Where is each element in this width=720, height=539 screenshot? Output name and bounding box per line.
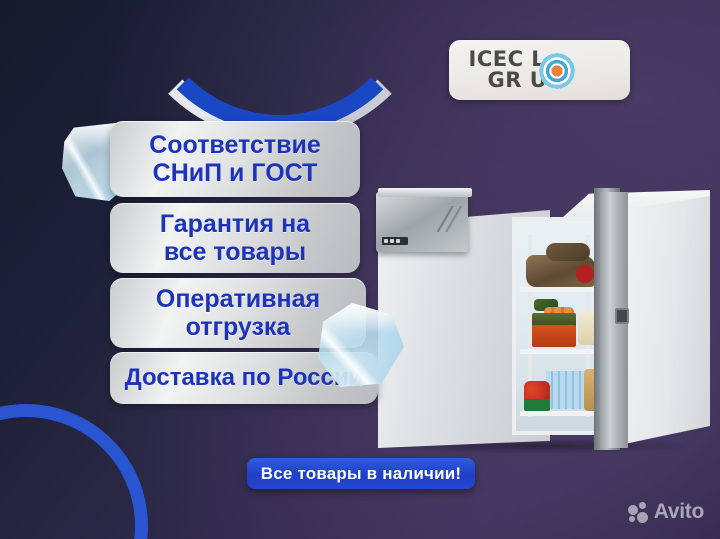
green-box-goods bbox=[524, 399, 550, 411]
avito-label: Avito bbox=[654, 500, 704, 524]
feature-pill-compliance: Соответствие СНиП и ГОСТ bbox=[110, 121, 360, 197]
feature-pill-shipping: Оперативная отгрузка bbox=[110, 278, 366, 348]
shelf bbox=[520, 287, 602, 292]
indicator-light bbox=[384, 239, 388, 243]
feature-pill-label: Гарантия на все товары bbox=[160, 210, 310, 266]
apple-goods bbox=[576, 265, 594, 283]
blue-corner-arc bbox=[0, 392, 160, 539]
produce-crate bbox=[532, 325, 576, 347]
cold-room-interior bbox=[512, 217, 602, 435]
cta-banner: Все товары в наличии! bbox=[247, 458, 475, 489]
advertisement-banner: ICEC L GR UP bbox=[0, 0, 720, 539]
monoblock-control-panel bbox=[382, 237, 408, 245]
water-bottles bbox=[546, 371, 584, 409]
cold-storage-room bbox=[372, 186, 710, 458]
blue-arc bbox=[134, 0, 426, 132]
indicator-light bbox=[396, 239, 400, 243]
monoblock-top bbox=[378, 188, 472, 197]
feature-pill-delivery: Доставка по России bbox=[110, 352, 378, 404]
target-icon bbox=[539, 53, 575, 89]
avito-dot bbox=[628, 505, 638, 515]
shelf bbox=[520, 411, 602, 416]
feature-pill-label: Соответствие СНиП и ГОСТ bbox=[149, 131, 321, 187]
avito-dot bbox=[637, 512, 648, 523]
cta-label: Все товары в наличии! bbox=[261, 464, 461, 484]
avito-watermark: Avito bbox=[628, 499, 704, 525]
shelf bbox=[520, 349, 602, 354]
feature-pill-warranty: Гарантия на все товары bbox=[110, 203, 360, 273]
meat-goods bbox=[546, 243, 590, 261]
avito-dot bbox=[629, 516, 635, 522]
indicator-light bbox=[390, 239, 394, 243]
feature-pill-label: Доставка по России bbox=[125, 365, 364, 392]
monoblock-cooling-unit bbox=[376, 192, 468, 252]
avito-dots-logo bbox=[628, 502, 649, 523]
brand-logo: ICEC L GR UP bbox=[449, 40, 630, 100]
feature-pill-label: Оперативная отгрузка bbox=[156, 285, 320, 341]
cold-room-right-wall bbox=[615, 196, 710, 446]
avito-dot bbox=[639, 502, 646, 509]
door-handle bbox=[615, 308, 629, 324]
